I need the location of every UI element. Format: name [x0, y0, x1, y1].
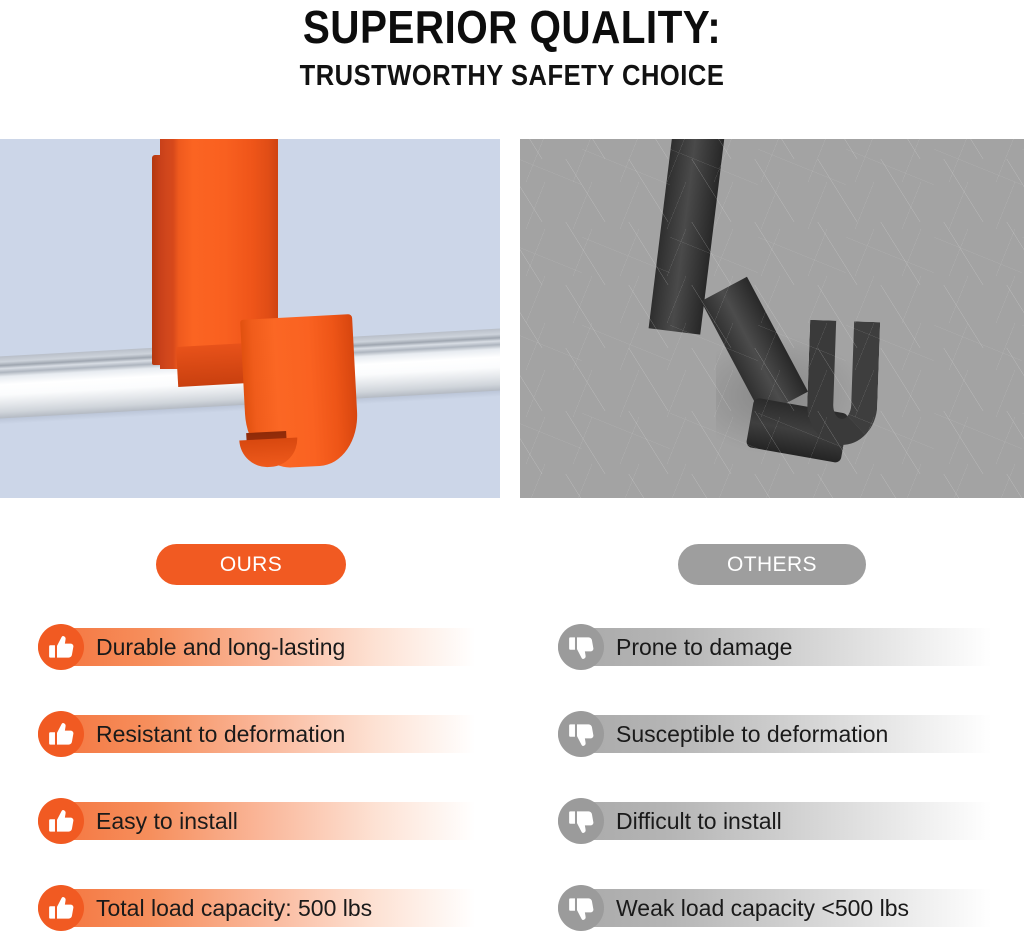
product-comparison-infographic: SUPERIOR QUALITY: TRUSTWORTHY SAFETY CHO… — [0, 0, 1024, 945]
list-item-label: Difficult to install — [616, 798, 782, 844]
list-item-label: Total load capacity: 500 lbs — [96, 885, 372, 931]
list-item-label: Susceptible to deformation — [616, 711, 888, 757]
thumbs-up-icon — [38, 624, 84, 670]
thumbs-down-icon — [558, 711, 604, 757]
page-subtitle: TRUSTWORTHY SAFETY CHOICE — [61, 58, 962, 94]
list-item: Susceptible to deformation — [558, 711, 1024, 757]
list-item: Total load capacity: 500 lbs — [38, 885, 508, 931]
badge-ours: OURS — [156, 544, 346, 585]
list-item: Resistant to deformation — [38, 711, 508, 757]
thumbs-up-icon — [38, 711, 84, 757]
hook-curl — [806, 320, 880, 446]
list-item: Prone to damage — [558, 624, 1024, 670]
list-item-label: Resistant to deformation — [96, 711, 345, 757]
photo-ours — [0, 139, 500, 498]
photo-panels — [0, 139, 1024, 498]
list-item: Weak load capacity <500 lbs — [558, 885, 1024, 931]
list-item-label: Durable and long-lasting — [96, 624, 345, 670]
photo-others — [520, 139, 1024, 498]
list-item: Difficult to install — [558, 798, 1024, 844]
list-item: Easy to install — [38, 798, 508, 844]
hook-mid-shank — [701, 277, 808, 416]
list-item-label: Weak load capacity <500 lbs — [616, 885, 909, 931]
thumbs-up-icon — [38, 798, 84, 844]
page-title: SUPERIOR QUALITY: — [61, 0, 962, 54]
thumbs-down-icon — [558, 624, 604, 670]
thumbs-down-icon — [558, 885, 604, 931]
list-item: Durable and long-lasting — [38, 624, 508, 670]
comparison-column-others: Prone to damage Susceptible to deformati… — [558, 624, 1024, 945]
comparison-column-ours: Durable and long-lasting Resistant to de… — [38, 624, 508, 945]
thumbs-down-icon — [558, 798, 604, 844]
list-item-label: Prone to damage — [616, 624, 792, 670]
heading-block: SUPERIOR QUALITY: TRUSTWORTHY SAFETY CHO… — [0, 0, 1024, 94]
thumbs-up-icon — [38, 885, 84, 931]
badge-others: OTHERS — [678, 544, 866, 585]
list-item-label: Easy to install — [96, 798, 238, 844]
